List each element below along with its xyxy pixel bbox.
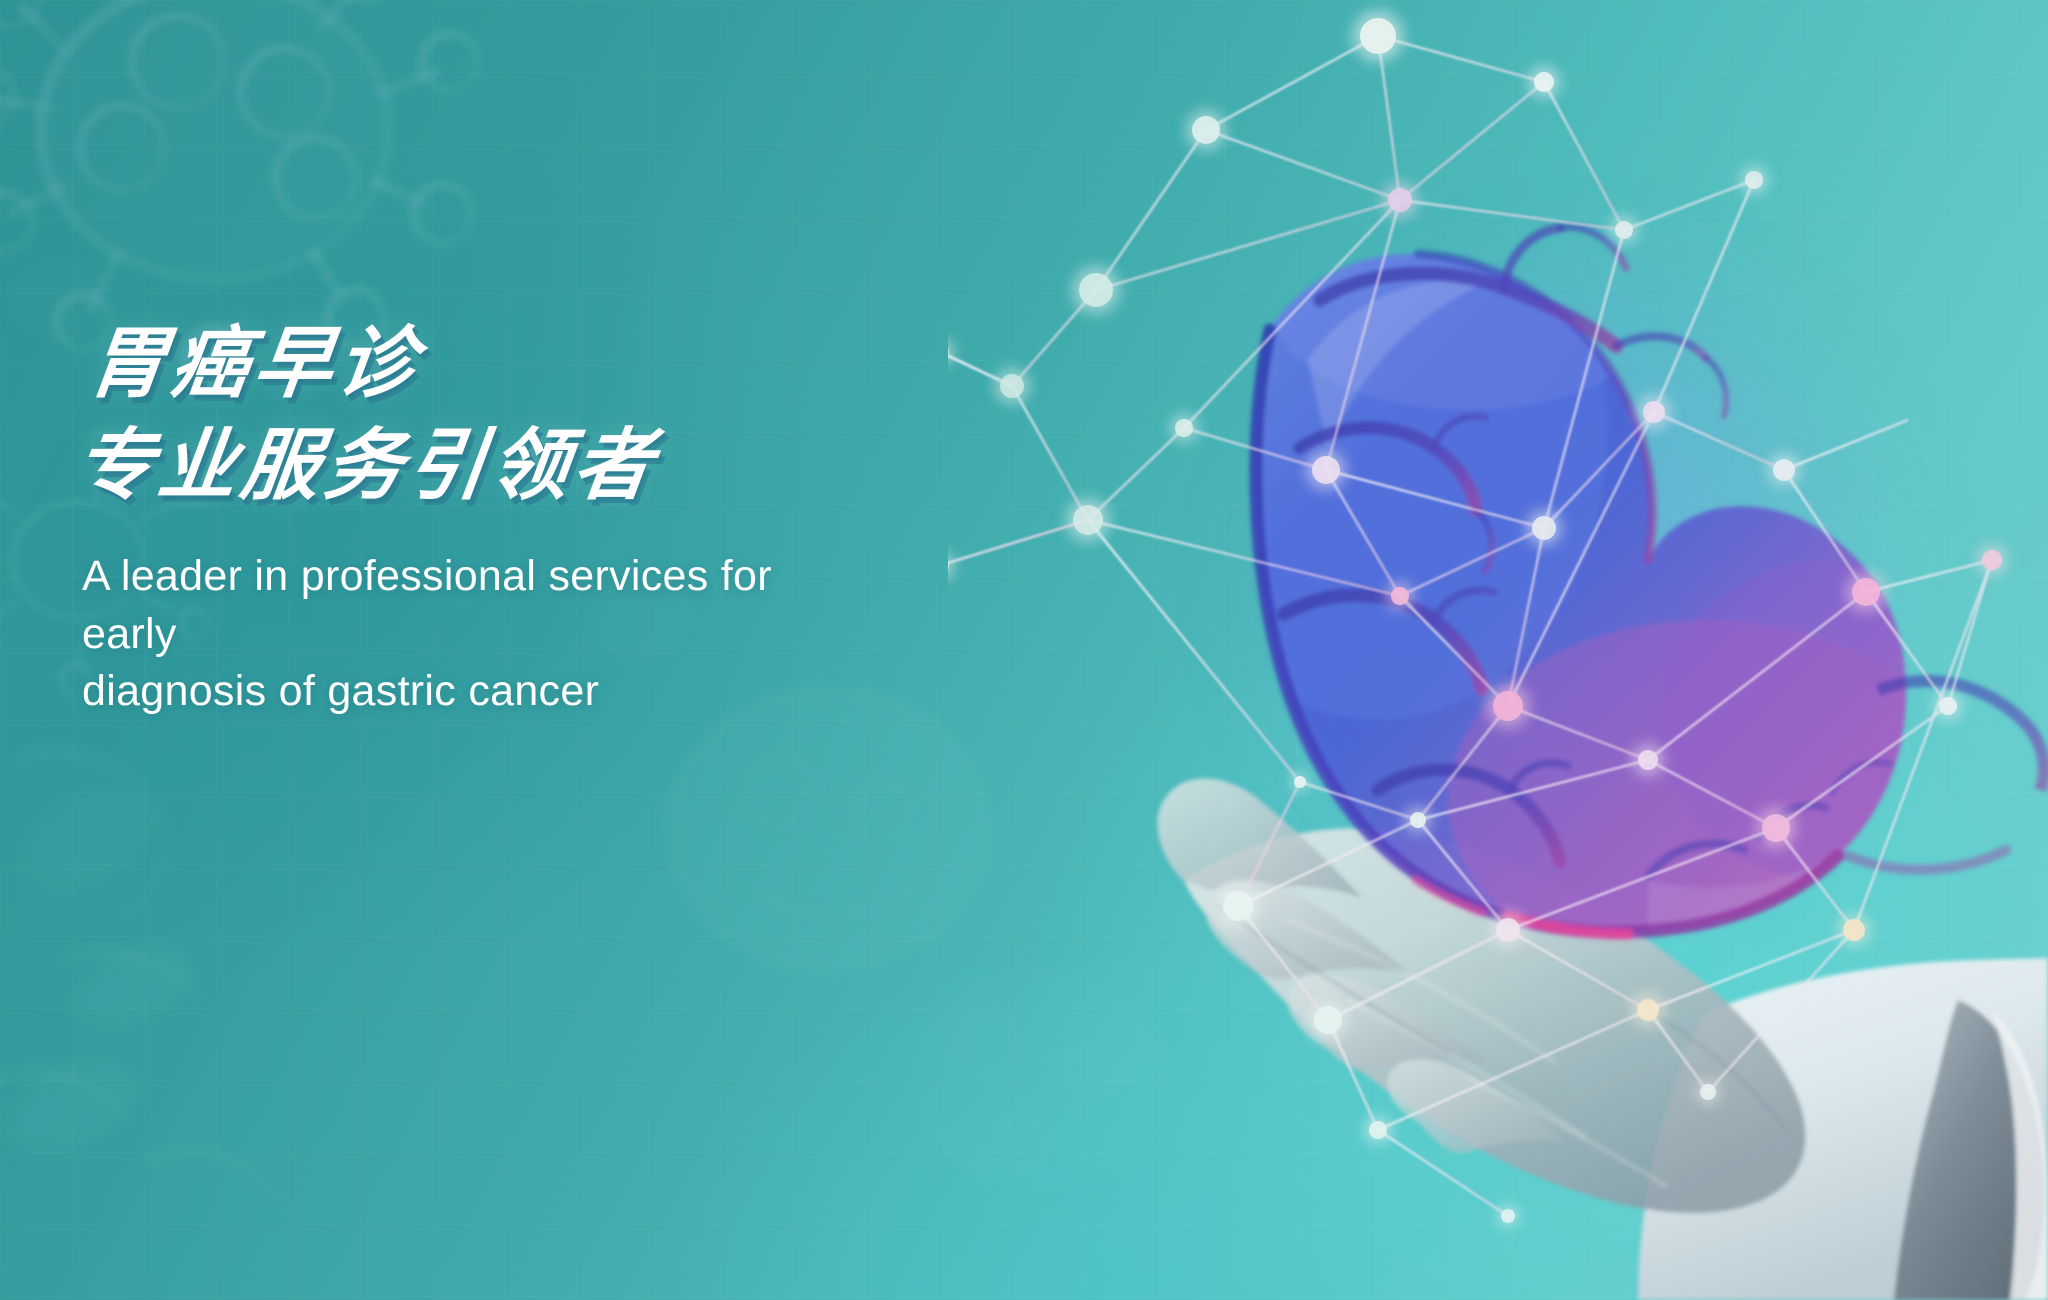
network-mesh-overlay (948, 0, 2048, 1300)
hero-banner: 胃癌早诊 专业服务引领者 A leader in professional se… (0, 0, 2048, 1300)
subhead-line-2: diagnosis of gastric cancer (82, 663, 872, 721)
mesh-edges (948, 36, 1992, 1216)
mesh-nodes (948, 10, 2007, 1227)
headline-line-1: 胃癌早诊 (83, 318, 1024, 410)
medical-illustration (948, 0, 2048, 1300)
page-subtitle: A leader in professional services for ea… (82, 548, 872, 721)
subhead-line-1: A leader in professional services for ea… (82, 548, 872, 663)
bacteria-cluster-icon (0, 752, 280, 1200)
headline-line-2: 专业服务引领者 (70, 420, 1011, 512)
page-title: 胃癌早诊 专业服务引领者 (70, 318, 1024, 512)
cell-blob-icon (670, 690, 990, 970)
hero-text-block: 胃癌早诊 专业服务引领者 A leader in professional se… (82, 318, 1012, 721)
